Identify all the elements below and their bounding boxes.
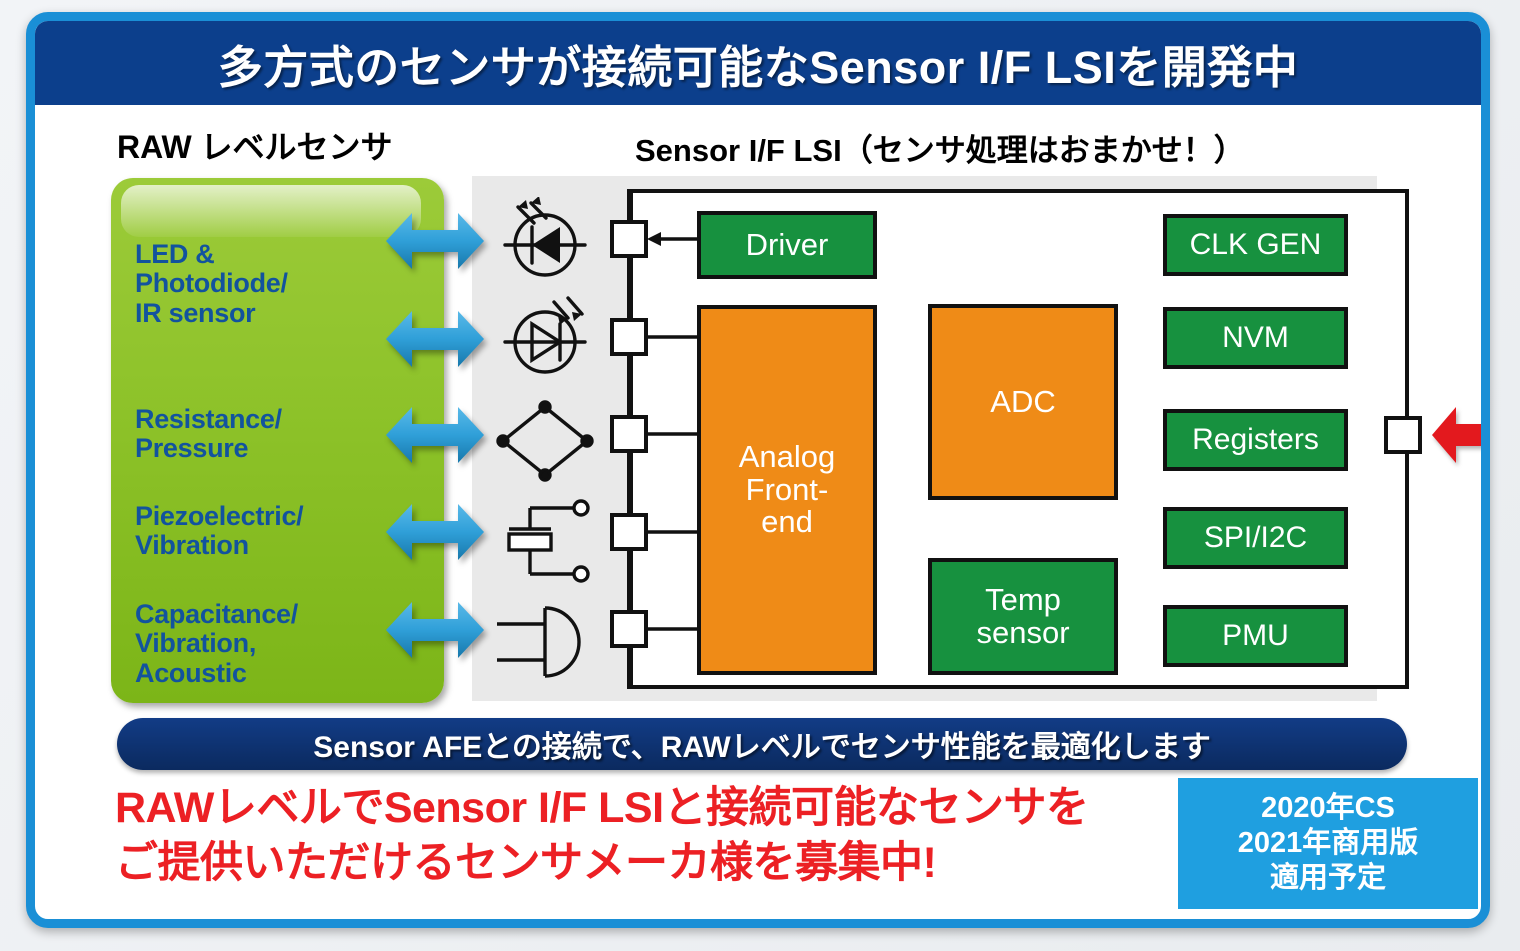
photodiode-symbol — [490, 294, 600, 382]
optimize-banner: Sensor AFEとの接続で、RAWレベルでセンサ性能を最適化します — [117, 718, 1407, 770]
block-adc[interactable]: ADC — [928, 304, 1118, 500]
wheatstone-bridge-symbol — [487, 393, 603, 489]
optimize-banner-text: Sensor AFEとの接続で、RAWレベルでセンサ性能を最適化します — [313, 722, 1210, 766]
double-arrow-icon-3 — [386, 403, 484, 467]
sensor-label-capacitance-vibration-acoustic: Capacitance/ Vibration, Acoustic — [135, 600, 298, 688]
title-band: 多方式のセンサが接続可能なSensor I/F LSIを開発中 — [35, 21, 1481, 105]
block-spi-i2c[interactable]: SPI/I2C — [1163, 507, 1348, 569]
block-temp-sensor[interactable]: Temp sensor — [928, 558, 1118, 675]
block-nvm[interactable]: NVM — [1163, 307, 1348, 369]
block-registers[interactable]: Registers — [1163, 409, 1348, 471]
double-arrow-icon-1 — [386, 209, 484, 273]
block-analog-front-end[interactable]: Analog Front- end — [697, 305, 877, 675]
pad-digital-interface — [1384, 416, 1422, 454]
capacitive-sensor-symbol — [487, 596, 603, 686]
sensor-label-piezoelectric-vibration: Piezoelectric/ Vibration — [135, 502, 303, 561]
sensor-label-led-photodiode: LED & Photodiode/ IR sensor — [135, 240, 288, 328]
schedule-badge: 2020年CS 2021年商用版 適用予定 — [1178, 778, 1478, 909]
block-clk-gen[interactable]: CLK GEN — [1163, 214, 1348, 276]
caption-lsi: Sensor I/F LSI（センサ処理はおまかせ！） — [635, 125, 1245, 170]
card-gloss — [121, 185, 421, 237]
call-to-action-text: RAWレベルでSensor I/F LSIと接続可能なセンサを ご提供いただける… — [115, 781, 1175, 891]
block-pmu[interactable]: PMU — [1163, 605, 1348, 667]
piezoelectric-element-symbol — [487, 498, 603, 586]
double-arrow-icon-4 — [386, 500, 484, 564]
block-driver[interactable]: Driver — [697, 211, 877, 279]
slide-card: 多方式のセンサが接続可能なSensor I/F LSIを開発中 RAW レベルセ… — [26, 12, 1490, 928]
caption-raw-sensors: RAW レベルセンサ — [117, 122, 393, 168]
schedule-badge-text: 2020年CS 2021年商用版 適用予定 — [1238, 791, 1419, 895]
page-title: 多方式のセンサが接続可能なSensor I/F LSIを開発中 — [218, 31, 1299, 96]
double-arrow-icon-red — [1432, 404, 1490, 466]
led-symbol — [490, 197, 600, 285]
sensor-label-resistance-pressure: Resistance/ Pressure — [135, 405, 282, 464]
double-arrow-icon-5 — [386, 598, 484, 662]
double-arrow-icon-2 — [386, 307, 484, 371]
